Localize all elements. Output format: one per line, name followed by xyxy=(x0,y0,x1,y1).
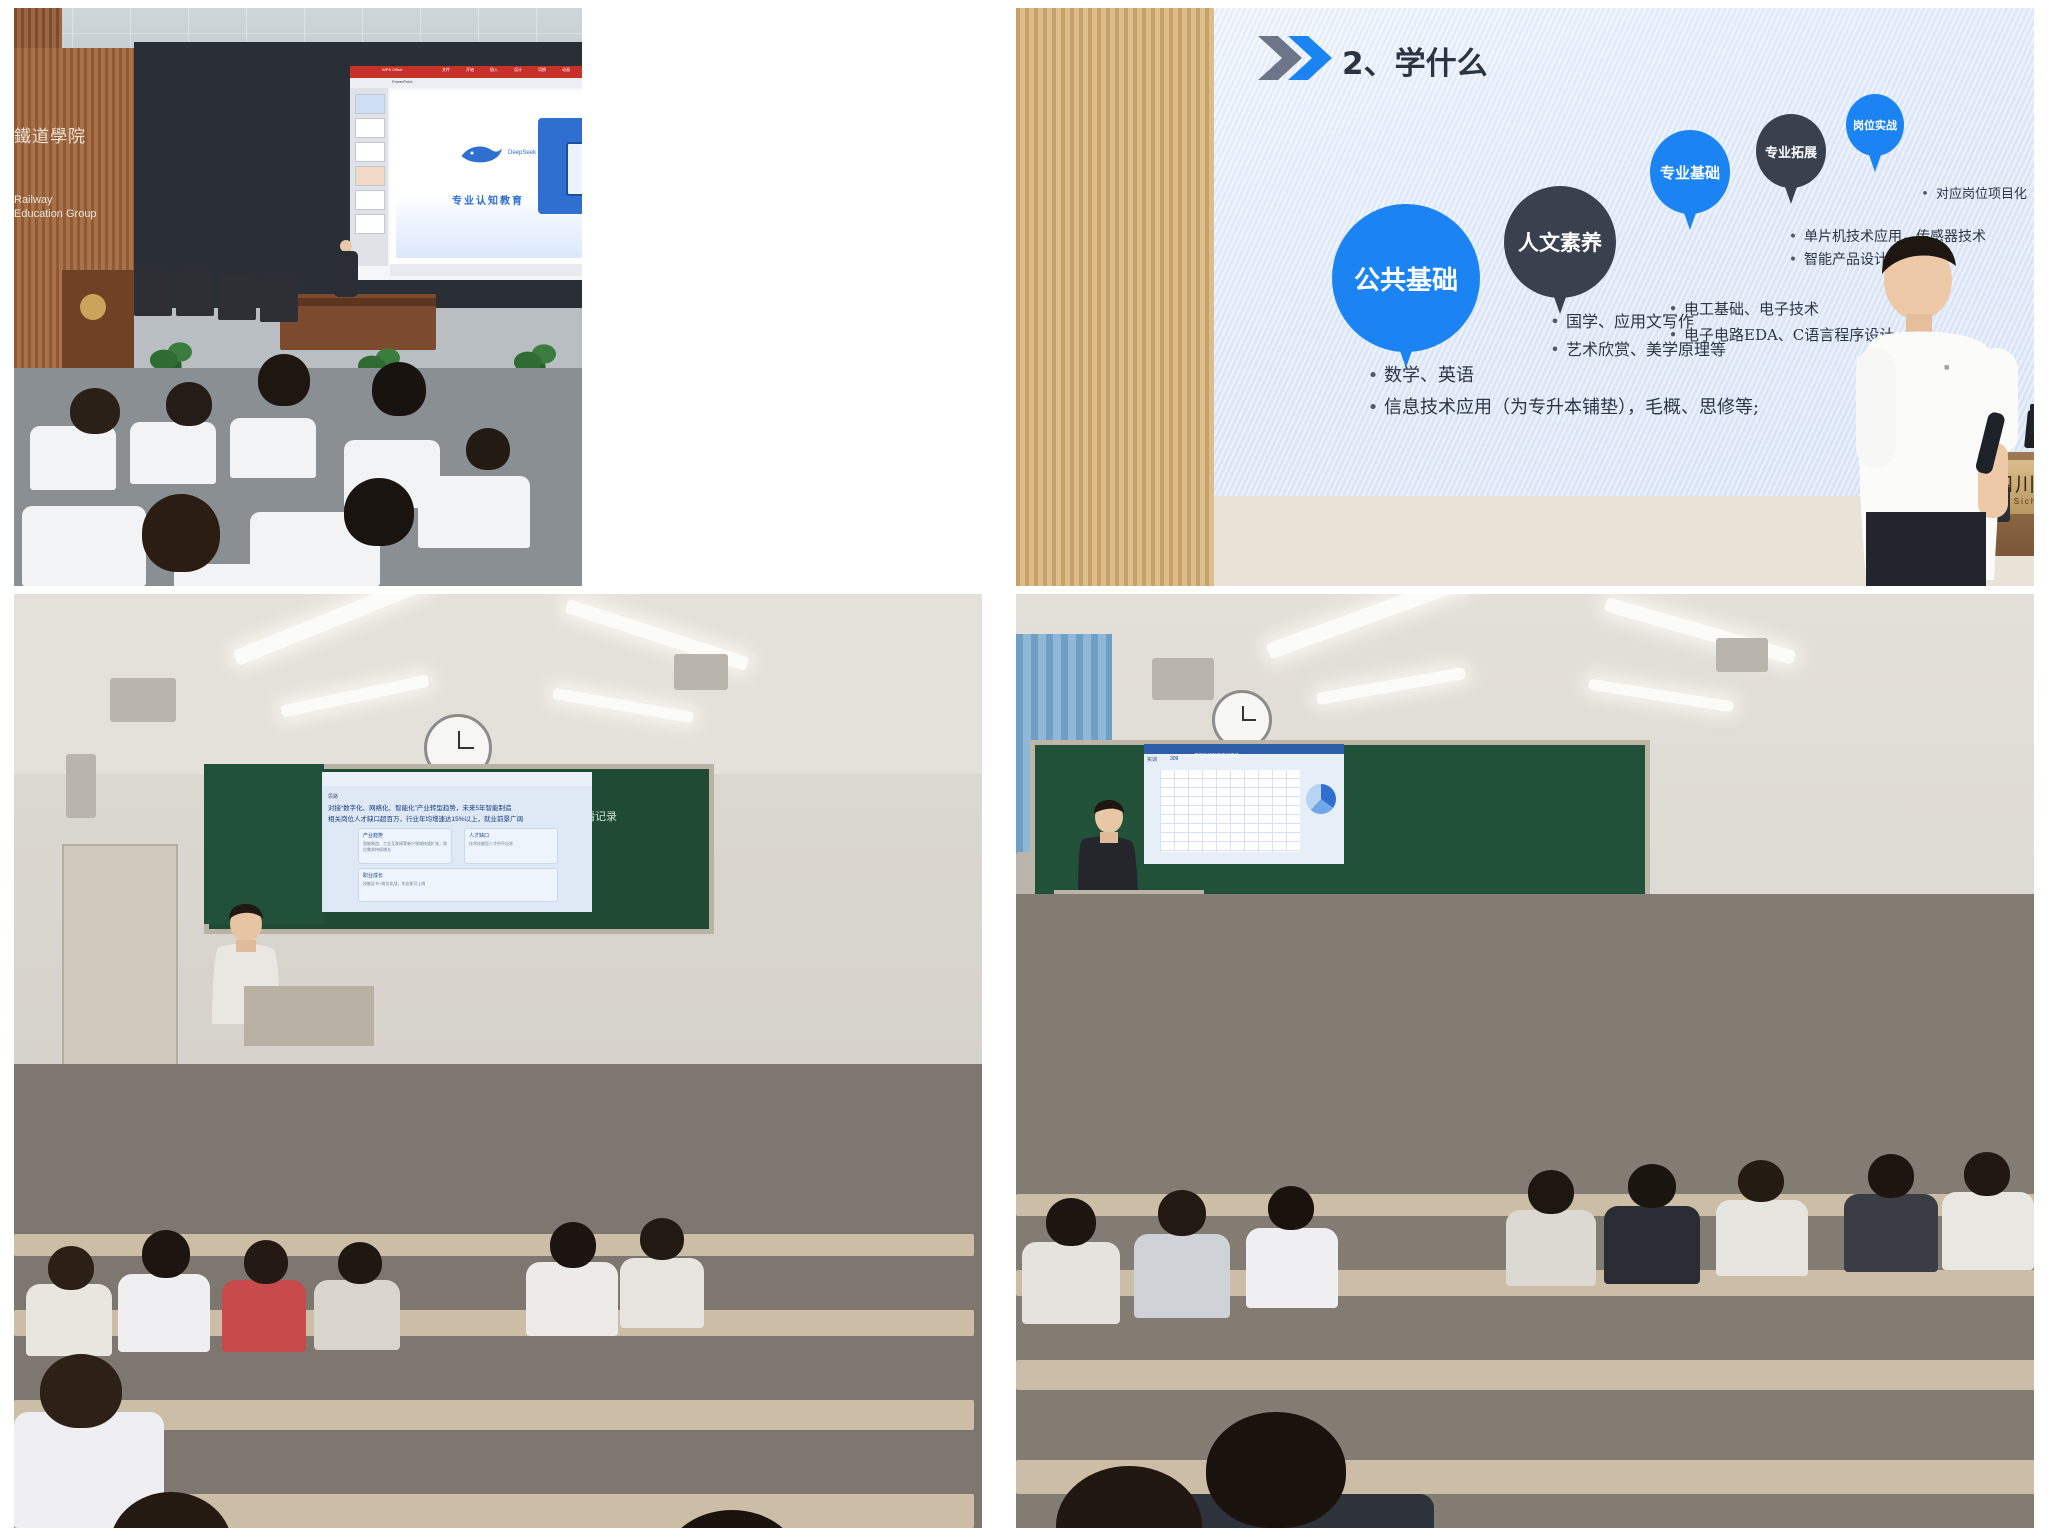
student-body xyxy=(26,1284,112,1356)
student-body xyxy=(118,1274,210,1352)
slide-card-title: 职业成长 xyxy=(363,872,383,879)
wall-speaker xyxy=(110,678,176,722)
student-body xyxy=(1246,1228,1338,1308)
seat xyxy=(22,506,146,586)
app-ribbon: WPS Office 文件 开始 插入 设计 切换 动画 幻灯片放映 分享 xyxy=(350,66,582,78)
student-body xyxy=(1942,1192,2034,1270)
student-body xyxy=(1134,1234,1230,1318)
slide-window-title: 2024学年智能制造实训安排 xyxy=(1184,753,1239,758)
slide-card: 职业成长 技能证书+岗位实战，毕业即可上岗 xyxy=(358,868,558,902)
slide-line-2: 相关岗位人才缺口超百万，行业年均增速达15%以上，就业前景广阔 xyxy=(328,814,586,825)
slide-content: DeepSeek 专业认知教育 xyxy=(396,94,582,258)
student-head xyxy=(244,1240,288,1284)
slide-tab-number: 309 xyxy=(1170,756,1178,762)
slide-thumb[interactable] xyxy=(355,118,385,138)
seat xyxy=(230,418,316,478)
slide-table xyxy=(1160,770,1300,852)
projected-screen: WPS Office 文件 开始 插入 设计 切换 动画 幻灯片放映 分享 Po… xyxy=(350,66,582,280)
chair xyxy=(218,274,256,320)
slide-card-desc: 技术技能型人才供不应求 xyxy=(469,841,553,847)
student-body xyxy=(526,1262,618,1336)
student-body xyxy=(1604,1206,1700,1284)
student-head xyxy=(1868,1154,1914,1198)
speaker-at-table xyxy=(332,240,360,298)
deepseek-label: DeepSeek xyxy=(508,150,536,156)
svg-text:■: ■ xyxy=(1944,362,1949,372)
seat xyxy=(418,476,530,548)
student-body xyxy=(1844,1194,1938,1272)
slide-window-titlebar: 2024学年智能制造实训安排 xyxy=(1144,744,1344,754)
wall-sign-cn: 鐵道學院 xyxy=(14,126,86,170)
monitor-illustration xyxy=(566,142,582,196)
table-edge xyxy=(280,298,436,306)
student-head xyxy=(344,478,414,546)
seat xyxy=(130,422,216,484)
slide-card-desc: 技能证书+岗位实战，毕业即可上岗 xyxy=(363,881,553,887)
student-body xyxy=(620,1258,704,1328)
teacher-desk xyxy=(244,986,374,1046)
student-head xyxy=(640,1218,684,1260)
pie-chart-icon xyxy=(1306,784,1336,814)
student-head xyxy=(466,428,510,470)
slide-thumb[interactable] xyxy=(355,142,385,162)
app-toolbar: PowerPoint xyxy=(350,78,582,88)
panel-classroom-lecture-a: 请记录 思路 对接“数字化、网络化、智能化”产业转型趋势，未来5年智能制造 相关… xyxy=(14,594,982,1528)
panel-classroom-lecture-b: 2024学年智能制造实训安排 实训 309 xyxy=(1016,594,2034,1528)
wall-speaker xyxy=(1716,638,1768,672)
ribbon-tab-0[interactable]: 文件 xyxy=(442,67,450,73)
slide-thumb[interactable] xyxy=(355,214,385,234)
wall-speaker xyxy=(66,754,96,818)
chair xyxy=(176,270,214,316)
student-body xyxy=(222,1280,306,1352)
bubble-humanities: 人文素养 xyxy=(1504,186,1616,298)
ribbon-tab-2[interactable]: 插入 xyxy=(490,67,498,73)
student-head xyxy=(1628,1164,1676,1208)
student-head xyxy=(40,1354,122,1428)
photo-collage: 鐵道學院 Railway Education Group WPS Office … xyxy=(0,0,2048,1536)
student-head xyxy=(142,1230,190,1278)
student-head xyxy=(166,382,212,426)
student-head xyxy=(1158,1190,1206,1236)
panel-presenter-with-slide: 2、学什么 公共基础 人文素养 专业基础 专业拓展 岗位实战 •对应岗位项目化 xyxy=(1016,8,2034,586)
lectern xyxy=(62,270,134,380)
ribbon-tab-4[interactable]: 切换 xyxy=(538,67,546,73)
seat xyxy=(30,426,116,490)
lectern-emblem xyxy=(80,294,106,320)
slide-tab-label: 实训 xyxy=(1147,756,1157,763)
student-head xyxy=(1738,1160,1784,1202)
blackboard-left-panel xyxy=(204,764,324,924)
bullets-humanities: •国学、应用文写作 •艺术欣赏、美学原理等 xyxy=(1544,308,1726,364)
slide-canvas: DeepSeek 专业认知教育 xyxy=(390,90,582,264)
student-head xyxy=(258,354,310,406)
panel-auditorium-lecture: 鐵道學院 Railway Education Group WPS Office … xyxy=(14,8,582,586)
slide-heading: 思路 xyxy=(328,792,586,803)
projected-slide: 2024学年智能制造实训安排 实训 309 xyxy=(1144,744,1344,864)
bubble-major-extension: 专业拓展 xyxy=(1756,114,1826,188)
slide-title: 2、学什么 xyxy=(1342,38,1488,83)
student-head xyxy=(372,362,426,416)
projected-slide: 思路 对接“数字化、网络化、智能化”产业转型趋势，未来5年智能制造 相关岗位人才… xyxy=(322,772,592,912)
slide-card-title: 产业趋势 xyxy=(363,832,383,839)
slide-heading-block: 思路 对接“数字化、网络化、智能化”产业转型趋势，未来5年智能制造 相关岗位人才… xyxy=(328,792,586,825)
wall-speaker xyxy=(1152,658,1214,700)
slide-card: 产业趋势 智能制造、工业互联网等新兴领域快速扩张，岗位需求持续增长 xyxy=(358,828,452,864)
student-head xyxy=(1046,1198,1096,1246)
student-head xyxy=(550,1222,596,1268)
wall-sign-en: Railway Education Group xyxy=(14,193,102,221)
chair xyxy=(260,276,298,322)
status-bar xyxy=(390,264,582,276)
app-brand: WPS Office xyxy=(382,67,403,72)
wall-speaker xyxy=(674,654,728,690)
student-head xyxy=(1964,1152,2010,1196)
chair xyxy=(134,270,172,316)
slide-line-1: 对接“数字化、网络化、智能化”产业转型趋势，未来5年智能制造 xyxy=(328,803,586,814)
slide-card-desc: 智能制造、工业互联网等新兴领域快速扩张，岗位需求持续增长 xyxy=(363,841,447,853)
slide-card: 人才缺口 技术技能型人才供不应求 xyxy=(464,828,558,864)
student-head xyxy=(70,388,120,434)
slide-toolbar xyxy=(322,772,592,786)
app-mode-label: PowerPoint xyxy=(392,79,412,84)
student-body xyxy=(1506,1210,1596,1286)
student-presenter: ■ xyxy=(1852,236,2032,586)
storage-cabinet xyxy=(62,844,178,1078)
student-head xyxy=(1268,1186,1314,1230)
bubble-public-foundation: 公共基础 xyxy=(1332,204,1480,352)
ribbon-tab-3[interactable]: 设计 xyxy=(514,67,522,73)
student-body xyxy=(1022,1242,1120,1324)
bubble-job-practice: 岗位实战 xyxy=(1846,94,1904,156)
slide-card-title: 人才缺口 xyxy=(469,832,489,839)
student-head xyxy=(1206,1412,1346,1528)
bullets-public-foundation: •数学、英语 •信息技术应用（为专升本铺垫），毛概、思修等; xyxy=(1362,360,1759,424)
student-body xyxy=(314,1280,400,1350)
chevron-double-right-icon xyxy=(1256,32,1352,84)
slide-thumb[interactable] xyxy=(355,190,385,210)
bubble-major-foundation: 专业基础 xyxy=(1650,130,1730,214)
whale-logo-icon xyxy=(458,138,504,168)
slide-title: 专业认知教育 xyxy=(452,192,524,207)
student-head xyxy=(48,1246,94,1290)
bullets-job-practice: •对应岗位项目化 xyxy=(1914,184,2027,205)
student-head xyxy=(142,494,220,572)
slide-thumb[interactable] xyxy=(355,166,385,186)
slide-thumb[interactable] xyxy=(355,94,385,114)
student-desk-row xyxy=(1016,1360,2034,1390)
student-head xyxy=(338,1242,382,1284)
wood-wall-left xyxy=(1016,8,1226,586)
student-head xyxy=(1528,1170,1574,1214)
ribbon-tab-1[interactable]: 开始 xyxy=(466,67,474,73)
ribbon-tab-5[interactable]: 动画 xyxy=(562,67,570,73)
student-body xyxy=(1716,1200,1808,1276)
